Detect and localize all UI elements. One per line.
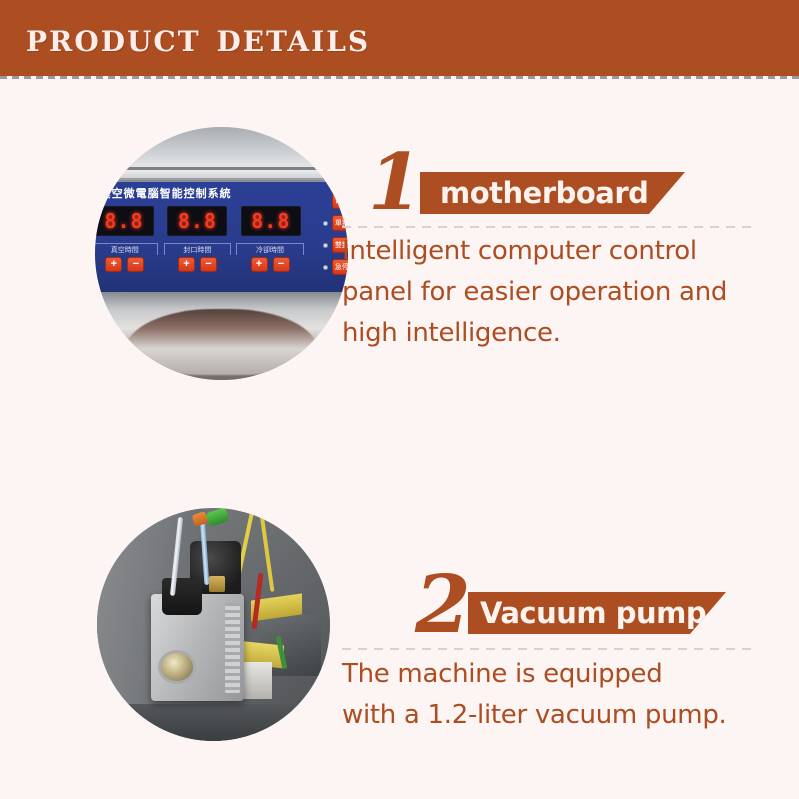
indicator-led (323, 221, 328, 226)
button-group-label: 封口時間 (164, 243, 231, 255)
side-button-power[interactable]: 電源 (332, 193, 348, 209)
section-separator (342, 648, 752, 650)
minus-button[interactable]: − (273, 257, 290, 272)
plus-button[interactable]: + (251, 257, 268, 272)
body-line: with a 1.2-liter vacuum pump. (342, 695, 727, 736)
body-line: high intelligence. (342, 313, 727, 354)
header-divider (0, 76, 799, 79)
section-ribbon-label: Vacuum pump (480, 596, 706, 630)
header-banner: Product Details (0, 0, 799, 76)
button-group: 冷卻時間 + − (236, 243, 303, 272)
section-ribbon-label: motherboard (440, 176, 648, 210)
control-panel-photo: 真空微電腦智能控制系統 8.8 8.8 8.8 真空時間 + − (95, 127, 348, 380)
body-line: The machine is equipped (342, 654, 727, 695)
vacuum-pump-photo (97, 508, 330, 741)
page-title: Product Details (26, 18, 370, 58)
indicator-led (323, 265, 328, 270)
led-display: 8.8 (167, 206, 227, 236)
button-group-row: 真空時間 + − 封口時間 + − 冷卻時間 (95, 243, 304, 272)
section-body-text: The machine is equipped with a 1.2-liter… (342, 654, 727, 736)
side-button-single-seal[interactable]: 單封 (332, 215, 348, 231)
section-number: 2 (415, 564, 471, 644)
button-group: 封口時間 + − (164, 243, 231, 272)
indicator-led (323, 243, 328, 248)
led-display: 8.8 (241, 206, 301, 236)
button-group-label: 真空時間 (95, 243, 158, 255)
section-ribbon: Vacuum pump (468, 592, 726, 634)
minus-button[interactable]: − (127, 257, 144, 272)
led-display: 8.8 (95, 206, 154, 236)
button-group-label: 冷卻時間 (236, 243, 303, 255)
led-display-row: 8.8 8.8 8.8 (95, 206, 301, 236)
panel-chinese-title: 真空微電腦智能控制系統 (100, 185, 232, 201)
body-line: panel for easier operation and (342, 272, 727, 313)
plus-button[interactable]: + (178, 257, 195, 272)
section-ribbon: motherboard (420, 172, 685, 214)
section-body-text: Intelligent computer control panel for e… (342, 231, 727, 354)
button-group: 真空時間 + − (95, 243, 158, 272)
section-number: 1 (368, 144, 422, 222)
plus-button[interactable]: + (105, 257, 122, 272)
body-line: Intelligent computer control (342, 231, 727, 272)
minus-button[interactable]: − (200, 257, 217, 272)
